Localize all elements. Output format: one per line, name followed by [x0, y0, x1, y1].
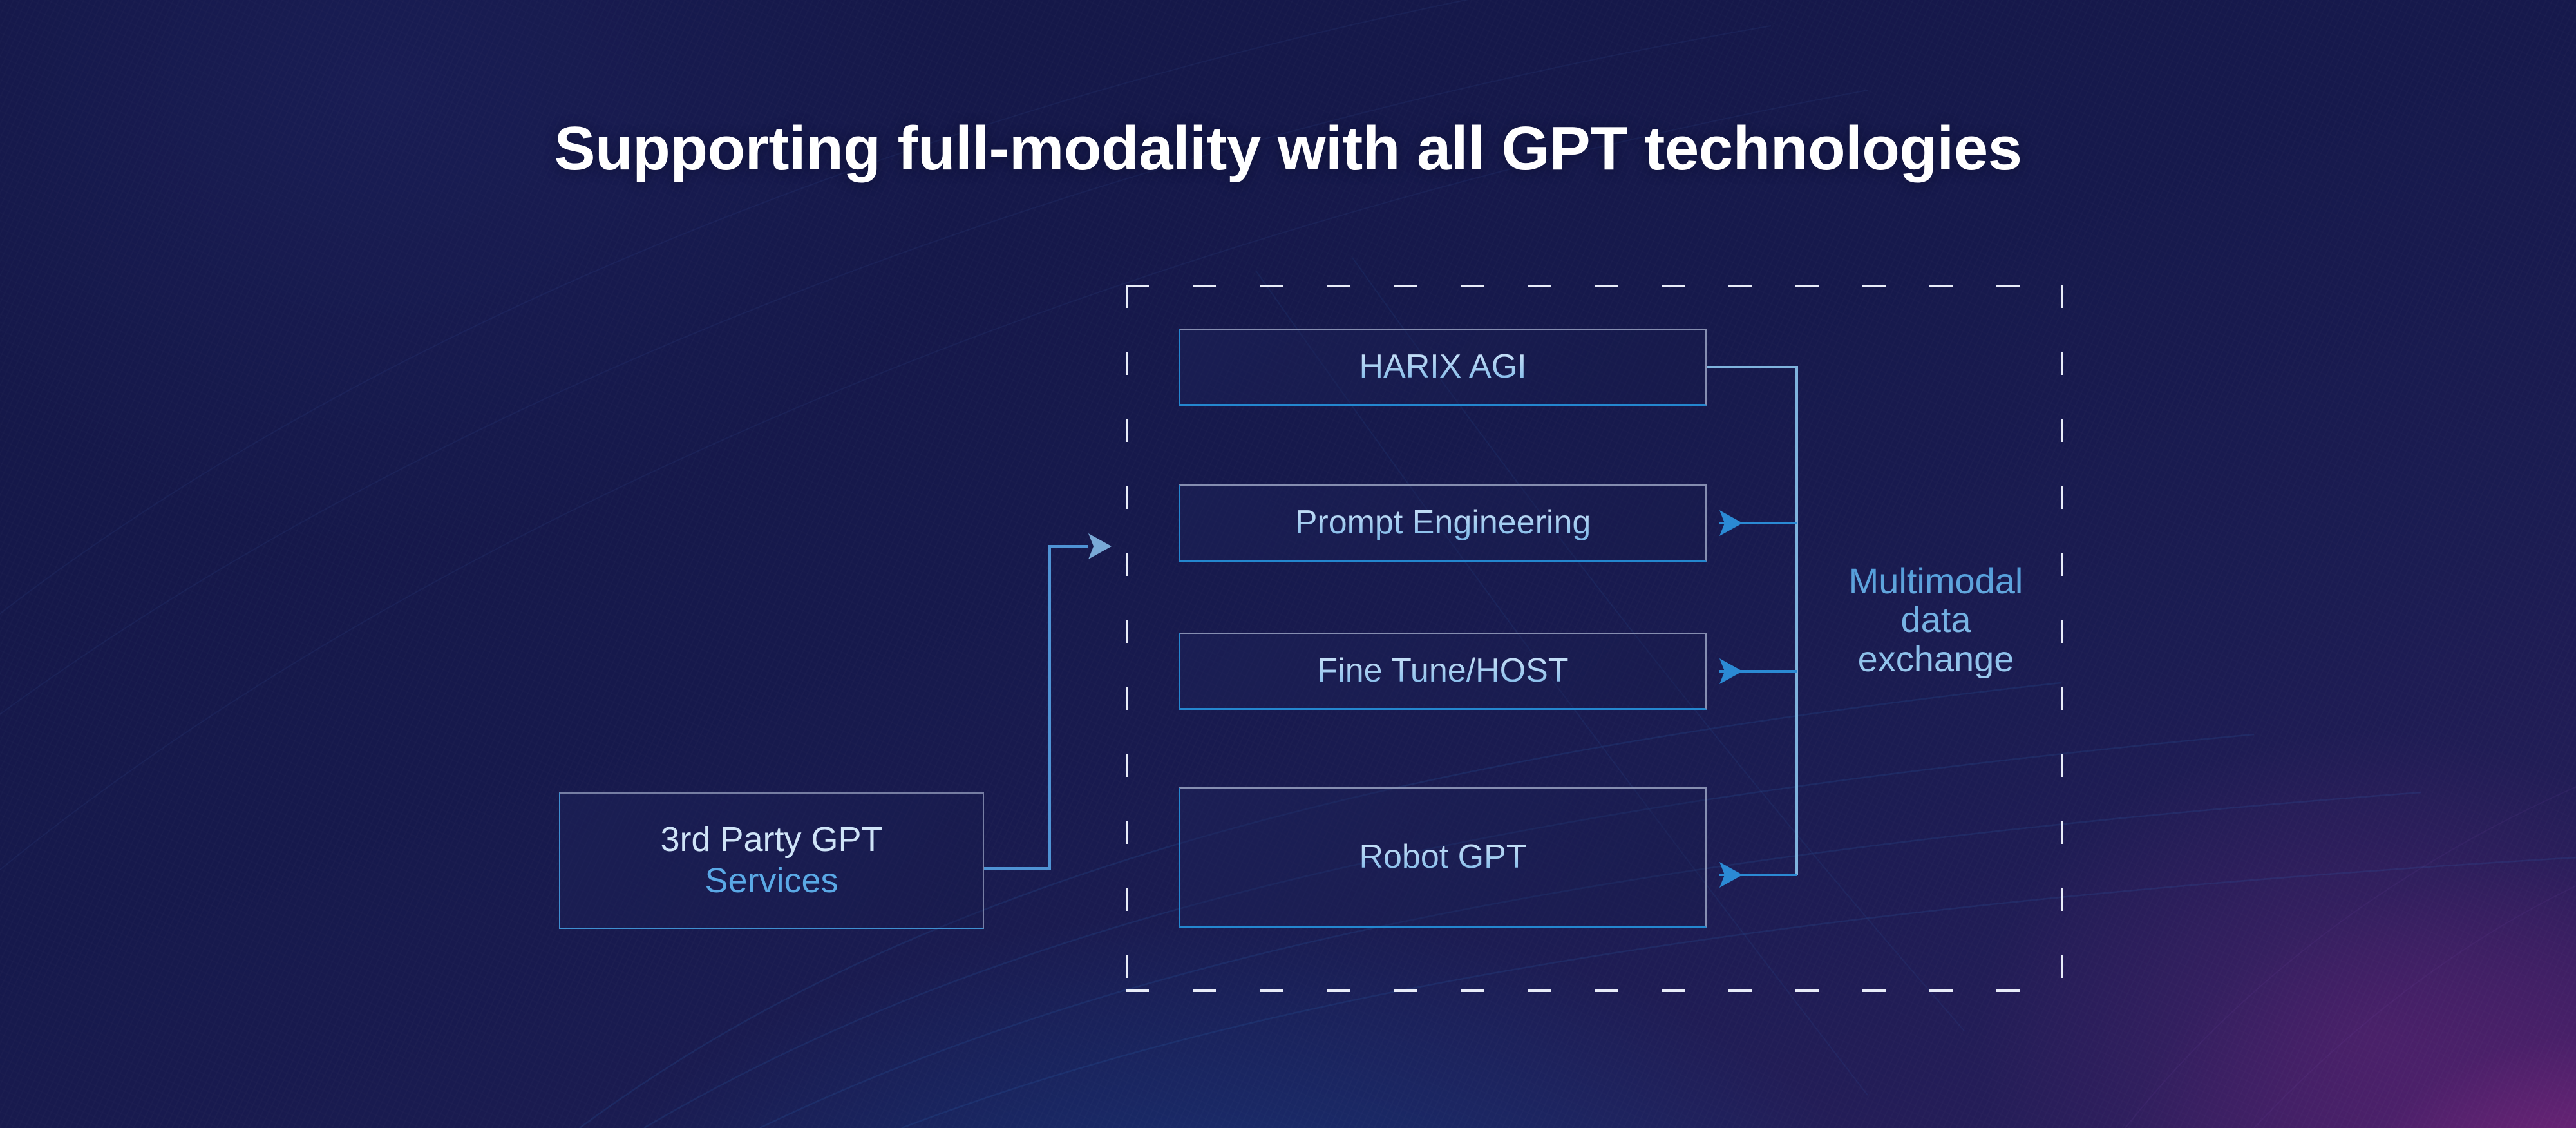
- node-robot-gpt[interactable]: Robot GPT: [1179, 787, 1707, 928]
- node-prompt-engineering-label: Prompt Engineering: [1295, 503, 1591, 542]
- multimodal-label-line1: Multimodal: [1820, 562, 2052, 600]
- node-fine-tune-host[interactable]: Fine Tune/HOST: [1179, 633, 1707, 710]
- node-third-party-gpt-services[interactable]: 3rd Party GPT Services: [559, 792, 984, 929]
- multimodal-data-exchange-label: Multimodal data exchange: [1820, 562, 2052, 678]
- page-title: Supporting full-modality with all GPT te…: [0, 113, 2576, 184]
- multimodal-label-line3: exchange: [1820, 640, 2052, 678]
- node-harix-agi-label: HARIX AGI: [1359, 347, 1526, 387]
- node-robot-gpt-label: Robot GPT: [1359, 837, 1526, 877]
- node-third-party-line2: Services: [705, 861, 838, 902]
- node-harix-agi[interactable]: HARIX AGI: [1179, 329, 1707, 406]
- node-fine-tune-host-label: Fine Tune/HOST: [1317, 651, 1568, 691]
- node-third-party-line1: 3rd Party GPT: [660, 819, 882, 861]
- node-prompt-engineering[interactable]: Prompt Engineering: [1179, 484, 1707, 562]
- slide-canvas: Supporting full-modality with all GPT te…: [0, 0, 2576, 1128]
- multimodal-label-line2: data: [1820, 600, 2052, 639]
